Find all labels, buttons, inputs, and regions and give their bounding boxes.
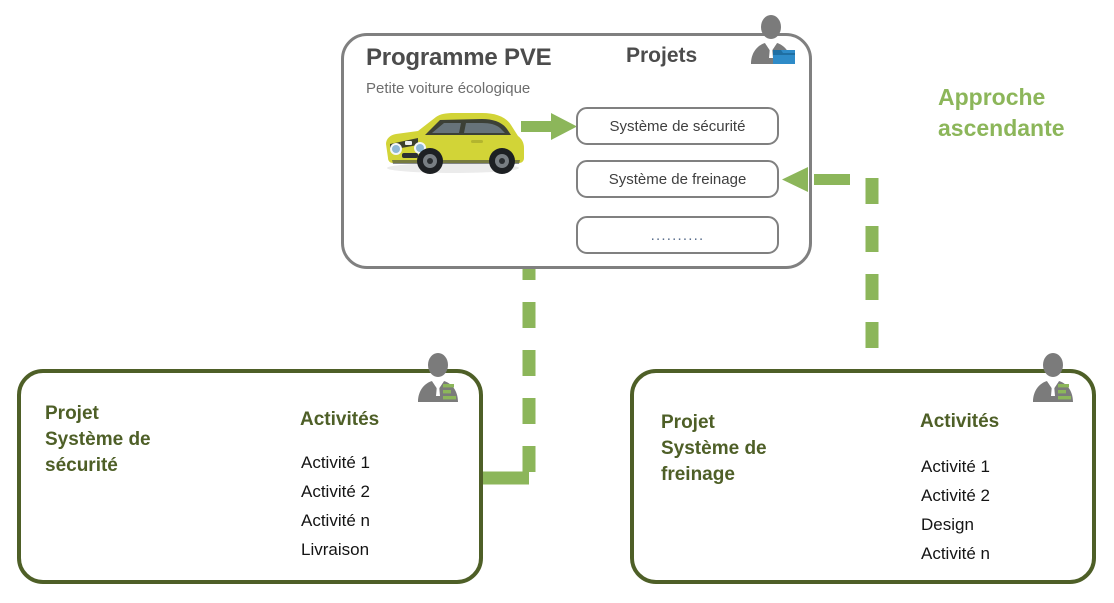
project-item-label: Système de sécurité bbox=[610, 118, 746, 135]
person-with-folder-icon bbox=[745, 14, 797, 66]
list-item: Activité 1 bbox=[921, 452, 990, 481]
diagram-canvas: Programme PVE Petite voiture écologique … bbox=[0, 0, 1114, 603]
project-item-label: .......... bbox=[651, 227, 705, 244]
list-item: Activité 2 bbox=[921, 481, 990, 510]
person-with-tasklist-icon bbox=[1027, 352, 1079, 404]
project-box-title: Projet Système de sécurité bbox=[45, 401, 151, 479]
project-box-title: Projet Système de freinage bbox=[661, 410, 767, 488]
list-item: Activité 1 bbox=[301, 448, 370, 477]
activities-heading: Activités bbox=[920, 411, 999, 433]
approche-line-2: ascendante bbox=[938, 113, 1106, 144]
list-item: Design bbox=[921, 510, 990, 539]
approche-ascendante-label: Approche ascendante bbox=[938, 82, 1106, 144]
arrow-left-icon bbox=[782, 165, 850, 194]
activities-list: Activité 1 Activité 2 Design Activité n bbox=[921, 452, 990, 568]
project-item-label: Système de freinage bbox=[609, 171, 747, 188]
project-item-securite[interactable]: Système de sécurité bbox=[576, 107, 779, 145]
programme-title: Programme PVE bbox=[366, 44, 551, 72]
car-illustration bbox=[378, 108, 528, 176]
project-item-ellipsis[interactable]: .......... bbox=[576, 216, 779, 254]
activities-heading: Activités bbox=[300, 409, 379, 431]
project-item-freinage[interactable]: Système de freinage bbox=[576, 160, 779, 198]
approche-line-1: Approche bbox=[938, 82, 1106, 113]
person-with-tasklist-icon bbox=[412, 352, 464, 404]
list-item: Livraison bbox=[301, 535, 370, 564]
arrow-right-icon bbox=[521, 112, 577, 141]
activities-list: Activité 1 Activité 2 Activité n Livrais… bbox=[301, 448, 370, 564]
projects-heading: Projets bbox=[626, 44, 697, 68]
programme-subtitle: Petite voiture écologique bbox=[366, 80, 530, 97]
list-item: Activité n bbox=[301, 506, 370, 535]
list-item: Activité n bbox=[921, 539, 990, 568]
list-item: Activité 2 bbox=[301, 477, 370, 506]
